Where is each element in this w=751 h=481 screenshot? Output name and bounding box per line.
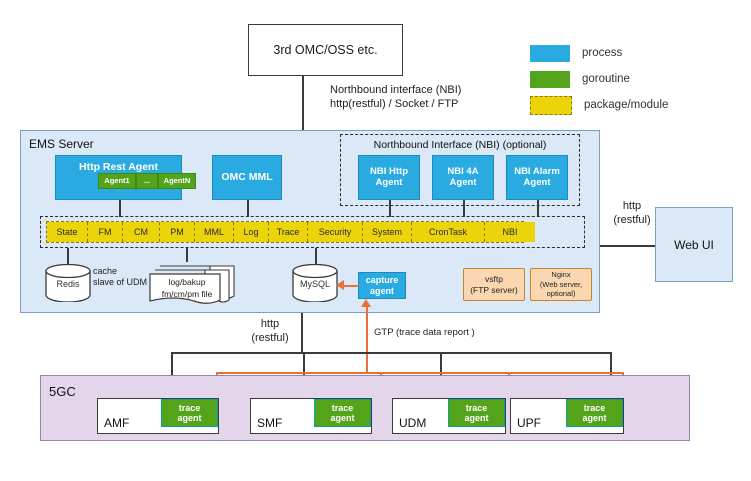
network-function-smf[interactable]: SMF trace agent [250,398,372,434]
third-party-omc-oss-box: 3rd OMC/OSS etc. [248,24,403,76]
gtp-bus-horizontal [216,372,622,374]
log-backup-labels: log/bakup fm/cm/pm file [156,276,218,301]
mysql-database: MySQL [292,264,338,302]
redis-database: Redis [45,264,91,302]
connector-omc-mml [247,200,249,217]
connector-mysql [315,248,317,264]
module-bar: State FM CM PM MML Log Trace Security Sy… [46,221,524,243]
nbi-4a-agent-process[interactable]: NBI 4A Agent [432,155,494,200]
log-backup-file-stack: log/bakup fm/cm/pm file [148,262,238,306]
module-state-label: State [56,227,77,237]
module-security[interactable]: Security [308,222,363,242]
udm-label: UDM [399,416,426,430]
goroutine-agent1[interactable]: Agent1 [98,173,136,189]
legend-item-package: package/module [530,92,740,118]
nbi-4a-agent-label: NBI 4A Agent [447,167,478,189]
legend-item-goroutine: goroutine [530,66,740,92]
amf-label: AMF [104,416,129,430]
trace-agent-smf-line1: trace [332,403,354,413]
nbi-http-agent-process[interactable]: NBI Http Agent [358,155,420,200]
http-restful-link-label: http (restful) [244,318,296,346]
module-system[interactable]: System [363,222,412,242]
web-ui-label: Web UI [674,238,714,252]
legend-label-goroutine: goroutine [582,73,630,85]
nginx-line2: (Web server, [540,280,582,289]
connector-nbi-http-agent [389,200,391,217]
ems-to-webui-connector [600,245,656,247]
module-cm[interactable]: CM [123,222,160,242]
nbi-interface-label-line1: Northbound interface (NBI) [330,84,560,98]
log-backup-line2: fm/cm/pm file [156,288,218,300]
http-restful-link-line2: (restful) [244,332,296,346]
goroutine-agentn[interactable]: AgentN [158,173,196,189]
trace-agent-smf[interactable]: trace agent [314,399,371,427]
nginx-service-box: Nginx (Web server, optional) [530,268,592,301]
capture-to-mysql-arrowhead [336,280,344,290]
trace-agent-amf-line1: trace [179,403,201,413]
legend-swatch-process [530,45,570,62]
omc-mml-label: OMC MML [221,171,272,183]
redis-label: Redis [45,279,91,289]
network-function-udm[interactable]: UDM trace agent [392,398,506,434]
vsftp-line1: vsftp [470,274,518,285]
connector-nbi-alarm-agent [537,200,539,217]
webui-link-line2: (restful) [608,214,656,228]
omc-mml-process[interactable]: OMC MML [212,155,282,200]
module-trace-label: Trace [277,227,300,237]
upf-label: UPF [517,416,541,430]
nginx-line3: optional) [540,289,582,298]
http-bus-horizontal [171,352,611,354]
module-trace[interactable]: Trace [269,222,308,242]
webui-link-line1: http [608,200,656,214]
legend-item-process: process [530,40,740,66]
module-crontask-label: CronTask [429,227,467,237]
capture-agent-line1: capture [366,275,399,285]
module-mml-label: MML [204,227,224,237]
trace-agent-upf-line1: trace [584,403,606,413]
goroutine-agent1-label: Agent1 [104,177,129,186]
vsftp-line2: (FTP server) [470,285,518,296]
trace-agent-udm[interactable]: trace agent [448,399,505,427]
goroutine-ellipsis: ... [136,173,158,189]
http-rest-agent-title: Http Rest Agent [56,161,181,173]
nbi-alarm-agent-process[interactable]: NBI Alarm Agent [506,155,568,200]
nbi-interface-label: Northbound interface (NBI) http(restful)… [330,84,560,112]
module-fm-label: FM [99,227,112,237]
connector-http-rest-agent [119,200,121,217]
module-crontask[interactable]: CronTask [412,222,485,242]
nbi-interface-label-line2: http(restful) / Socket / FTP [330,98,560,112]
trace-agent-amf-line2: agent [177,413,201,423]
log-backup-line1: log/bakup [156,276,218,288]
connector-nbi-4a-agent [463,200,465,217]
gtp-link-line [366,306,368,372]
connector-files [186,248,188,262]
nbi-group-title: Northbound Interface (NBI) (optional) [341,139,579,151]
fivegc-title: 5GC [49,384,76,399]
module-nbi[interactable]: NBI [485,222,535,242]
module-state[interactable]: State [47,222,88,242]
network-function-amf[interactable]: AMF trace agent [97,398,219,434]
nbi-alarm-agent-label: NBI Alarm Agent [514,167,560,189]
ems-server-title: EMS Server [29,137,94,151]
trace-agent-amf[interactable]: trace agent [161,399,218,427]
network-function-upf[interactable]: UPF trace agent [510,398,624,434]
capture-agent-process[interactable]: capture agent [358,272,406,299]
gtp-arrowhead [361,299,371,307]
trace-agent-udm-line1: trace [466,403,488,413]
module-log[interactable]: Log [234,222,269,242]
module-nbi-label: NBI [502,227,517,237]
trace-agent-udm-line2: agent [464,413,488,423]
vsftp-service-box: vsftp (FTP server) [463,268,525,301]
capture-to-mysql-arrow-line [343,285,359,287]
nbi-http-agent-label: NBI Http Agent [370,167,408,189]
connector-redis [67,248,69,264]
legend: process goroutine package/module [530,40,740,118]
http-restful-link-line1: http [244,318,296,332]
module-security-label: Security [319,227,352,237]
module-pm-label: PM [170,227,184,237]
module-cm-label: CM [134,227,148,237]
oss-to-ems-connector [302,76,304,130]
web-ui-box[interactable]: Web UI [655,207,733,282]
legend-label-package: package/module [584,99,668,111]
nginx-line1: Nginx [540,270,582,279]
smf-label: SMF [257,416,282,430]
third-party-omc-oss-label: 3rd OMC/OSS etc. [273,43,377,57]
module-fm[interactable]: FM [88,222,123,242]
module-mml[interactable]: MML [195,222,234,242]
diagram-canvas: process goroutine package/module 3rd OMC… [0,0,751,481]
module-log-label: Log [243,227,258,237]
mysql-label: MySQL [292,279,338,289]
module-pm[interactable]: PM [160,222,195,242]
module-system-label: System [372,227,402,237]
goroutine-agentn-label: AgentN [164,177,191,186]
http-restful-link-line [301,313,303,352]
goroutine-ellipsis-label: ... [144,177,150,186]
gtp-link-label: GTP (trace data report ) [374,327,554,338]
trace-agent-upf[interactable]: trace agent [566,399,623,427]
legend-label-process: process [582,47,622,59]
webui-link-label: http (restful) [608,200,656,228]
trace-agent-smf-line2: agent [330,413,354,423]
trace-agent-upf-line2: agent [582,413,606,423]
capture-agent-line2: agent [366,286,399,296]
